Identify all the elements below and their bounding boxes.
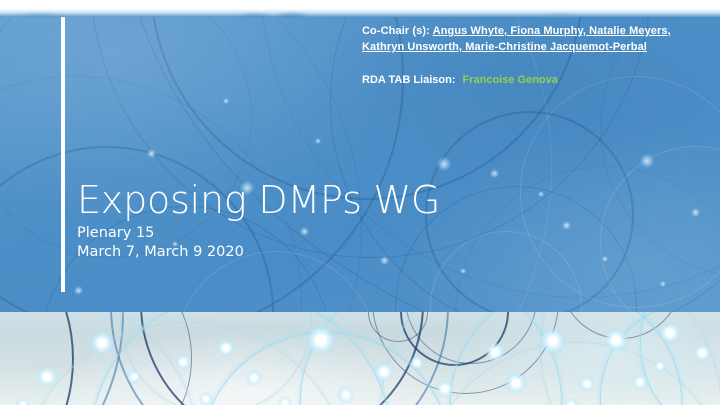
page-title: Exposing DMPs WG bbox=[77, 178, 440, 222]
co-chairs-block: Co-Chair (s): Angus Whyte, Fiona Murphy,… bbox=[362, 23, 714, 55]
tab-liaison-block: RDA TAB Liaison:Francoise Genova bbox=[362, 74, 558, 86]
glow-dot bbox=[654, 360, 666, 372]
network-node bbox=[460, 268, 466, 274]
co-chairs-line-1: Co-Chair (s): Angus Whyte, Fiona Murphy,… bbox=[362, 23, 714, 39]
network-node bbox=[315, 138, 321, 144]
blue-background-band bbox=[0, 16, 720, 312]
glow-dot bbox=[337, 386, 355, 404]
network-node bbox=[602, 256, 608, 262]
glow-dot bbox=[199, 392, 213, 405]
glow-dot bbox=[564, 398, 578, 405]
glow-dot bbox=[604, 328, 628, 352]
network-node bbox=[74, 286, 83, 295]
tab-liaison-name: Francoise Genova bbox=[456, 74, 558, 86]
glow-dot bbox=[374, 362, 394, 382]
glow-dot bbox=[246, 370, 262, 386]
network-node bbox=[691, 208, 700, 217]
co-chairs-label: Co-Chair (s): bbox=[362, 25, 430, 37]
network-node bbox=[300, 227, 309, 236]
glow-dot bbox=[36, 366, 58, 388]
presentation-title-slide: Co-Chair (s): Angus Whyte, Fiona Murphy,… bbox=[0, 0, 720, 405]
co-chairs-names-line-2: Kathryn Unsworth, Marie-Christine Jacque… bbox=[362, 41, 647, 53]
glow-dot bbox=[632, 374, 648, 390]
glow-dot bbox=[16, 398, 30, 405]
network-node bbox=[147, 149, 156, 158]
glow-dot bbox=[90, 331, 114, 355]
network-node bbox=[660, 281, 666, 287]
network-node bbox=[538, 191, 544, 197]
glow-dot bbox=[217, 339, 235, 357]
glow-dot bbox=[505, 372, 527, 394]
glow-dot bbox=[410, 356, 424, 370]
glow-dot bbox=[693, 344, 711, 362]
network-node bbox=[640, 154, 654, 168]
bottom-light-panel bbox=[0, 312, 720, 405]
co-chairs-line-2: Kathryn Unsworth, Marie-Christine Jacque… bbox=[362, 39, 714, 55]
glow-dot bbox=[127, 370, 141, 384]
page-subtitle: Plenary 15 March 7, March 9 2020 bbox=[77, 224, 244, 261]
network-node bbox=[223, 98, 229, 104]
network-node bbox=[380, 256, 389, 265]
tab-liaison-label: RDA TAB Liaison: bbox=[362, 74, 456, 86]
top-white-strip bbox=[0, 0, 720, 9]
glow-dot bbox=[579, 376, 595, 392]
vertical-divider-bar bbox=[61, 17, 65, 292]
background-sweep bbox=[0, 16, 552, 312]
subtitle-line-1: Plenary 15 bbox=[77, 224, 244, 243]
glow-dot bbox=[278, 396, 292, 405]
glow-dot bbox=[436, 380, 454, 398]
top-fade-streaks bbox=[0, 8, 720, 18]
network-node bbox=[437, 157, 451, 171]
subtitle-line-2: March 7, March 9 2020 bbox=[77, 243, 244, 262]
network-node bbox=[490, 169, 499, 178]
glow-dot bbox=[175, 354, 191, 370]
glow-dot bbox=[485, 342, 505, 362]
glow-dot bbox=[540, 328, 566, 354]
glow-dot bbox=[306, 325, 336, 355]
glow-dot bbox=[659, 322, 681, 344]
network-node bbox=[562, 221, 571, 230]
co-chairs-names-line-1: Angus Whyte, Fiona Murphy, Natalie Meyer… bbox=[433, 25, 671, 37]
